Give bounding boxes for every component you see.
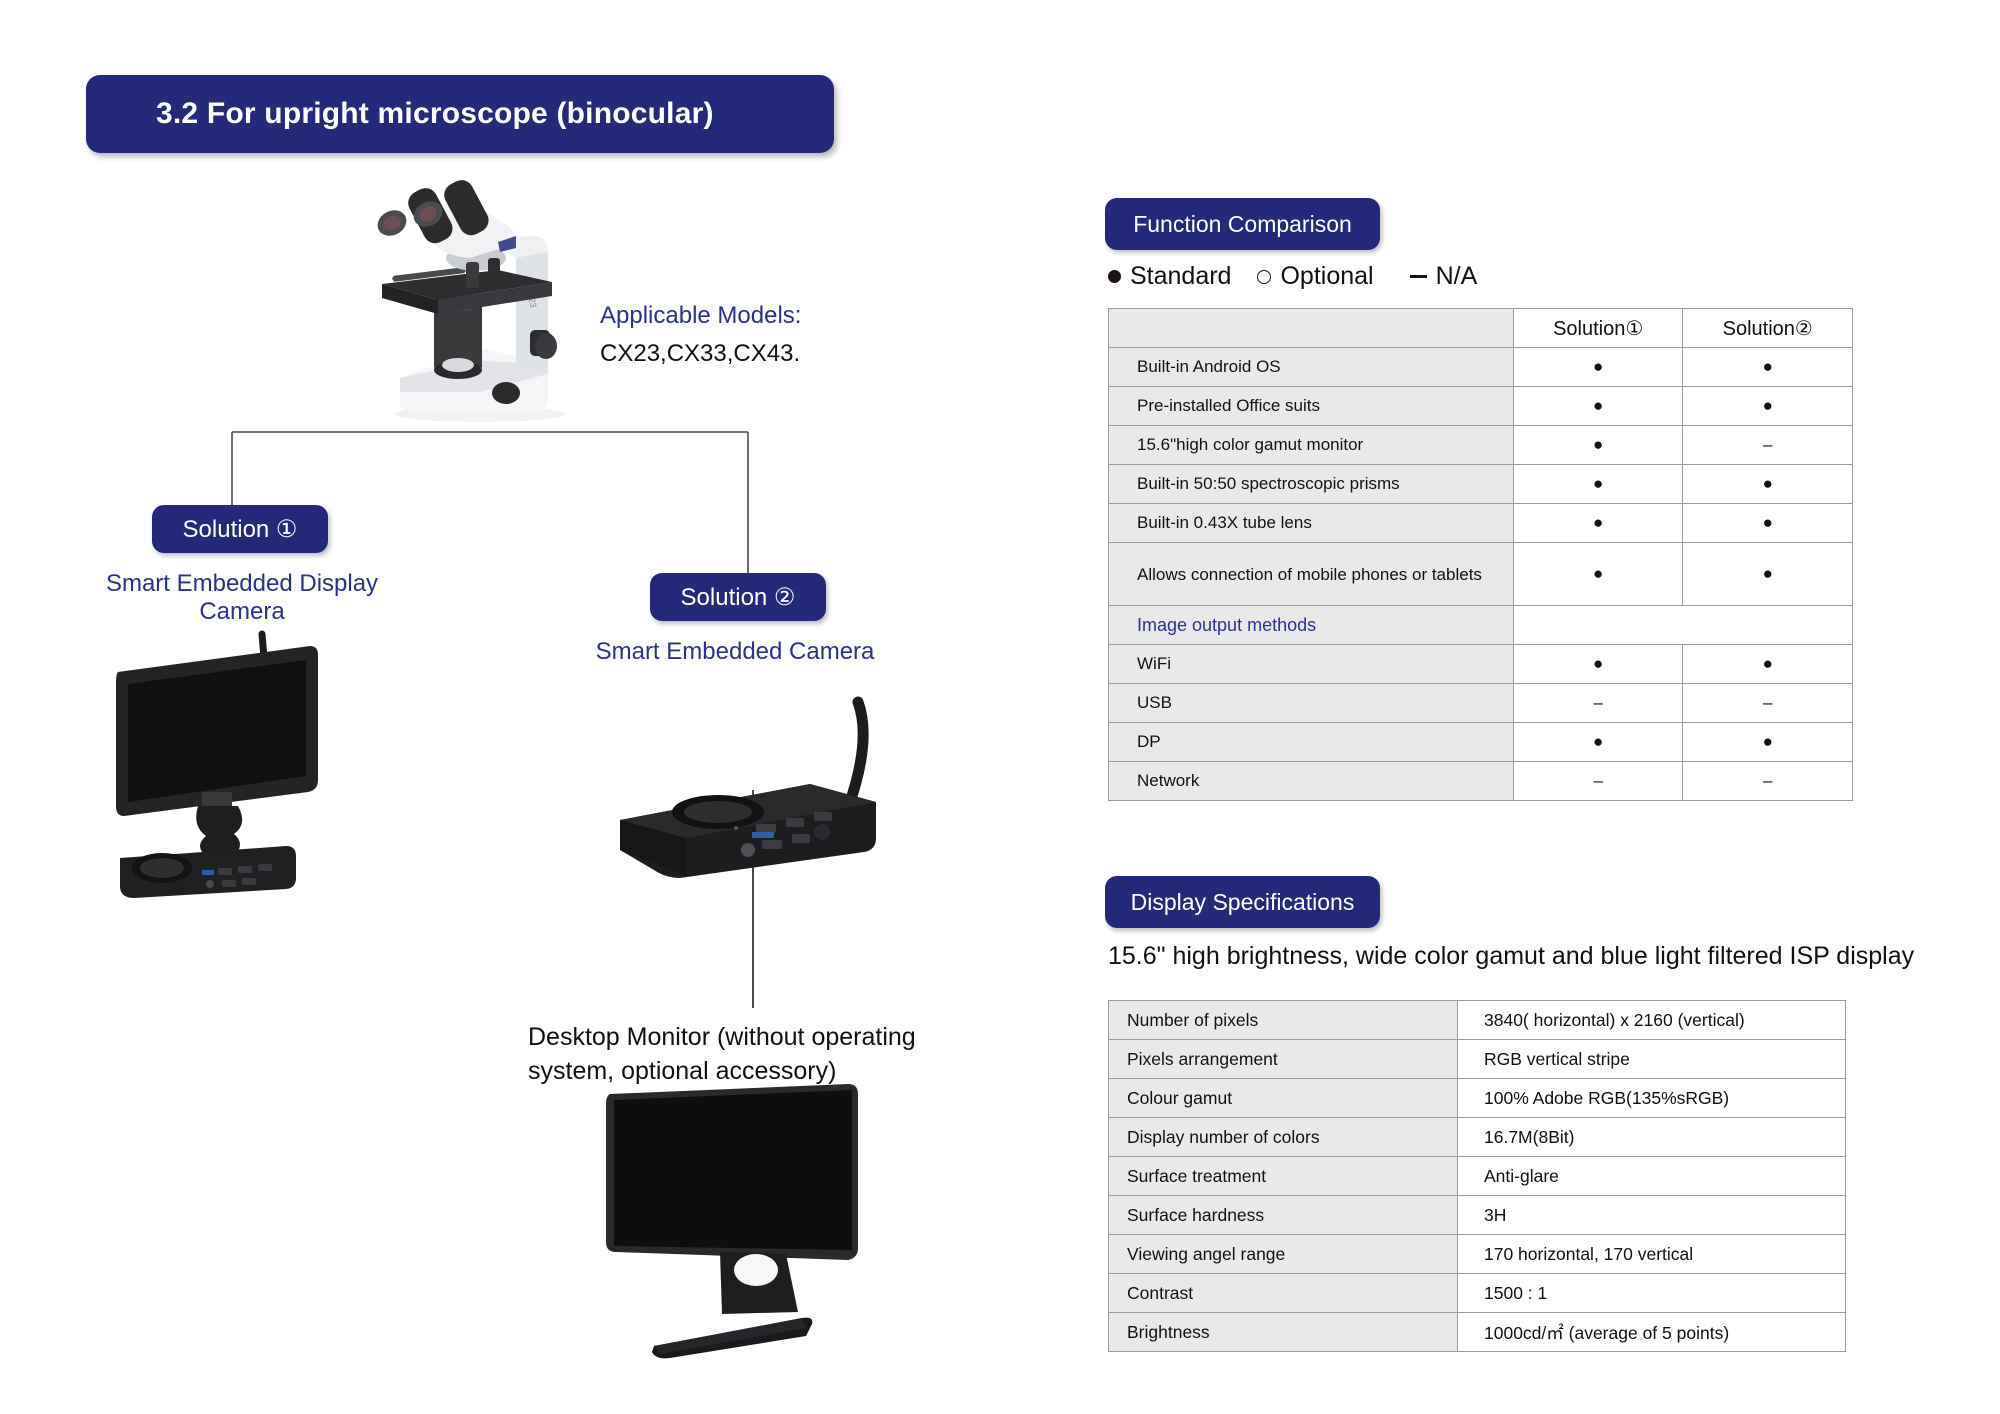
header-solution-2: Solution②: [1683, 309, 1853, 348]
row-mark-solution-1: –: [1513, 762, 1683, 801]
table-row: Colour gamut 100% Adobe RGB(135%sRGB): [1109, 1079, 1846, 1118]
row-label: WiFi: [1109, 645, 1514, 684]
table-row: Pixels arrangement RGB vertical stripe: [1109, 1040, 1846, 1079]
row-label: Pre-installed Office suits: [1109, 387, 1514, 426]
table-row: Surface treatment Anti-glare: [1109, 1157, 1846, 1196]
spec-key: Brightness: [1109, 1313, 1458, 1352]
filled-circle-icon: [1108, 270, 1121, 283]
legend-label-optional: Optional: [1280, 262, 1373, 291]
spec-value: 1000cd/㎡ (average of 5 points): [1458, 1313, 1846, 1352]
spec-value: 3H: [1458, 1196, 1846, 1235]
legend-label-standard: Standard: [1130, 262, 1231, 291]
function-comparison-legend: Standard Optional N/A: [1108, 262, 1477, 291]
solution-2-badge[interactable]: Solution ②: [650, 573, 826, 621]
display-specifications-heading-label: Display Specifications: [1131, 889, 1355, 916]
row-mark-solution-2: –: [1683, 762, 1853, 801]
row-mark-solution-2: ●: [1683, 543, 1853, 606]
applicable-models-block: Applicable Models: CX23,CX33,CX43.: [600, 298, 930, 374]
table-row: Network – –: [1109, 762, 1853, 801]
row-mark-solution-1: ●: [1513, 387, 1683, 426]
table-row: Contrast 1500 : 1: [1109, 1274, 1846, 1313]
row-label: USB: [1109, 684, 1514, 723]
row-mark-solution-2: ●: [1683, 723, 1853, 762]
table-row: Built-in 0.43X tube lens ● ●: [1109, 504, 1853, 543]
row-label: DP: [1109, 723, 1514, 762]
table-row: Viewing angel range 170 horizontal, 170 …: [1109, 1235, 1846, 1274]
table-row: USB – –: [1109, 684, 1853, 723]
spec-value: RGB vertical stripe: [1458, 1040, 1846, 1079]
table-row: Number of pixels 3840( horizontal) x 216…: [1109, 1001, 1846, 1040]
table-row: Surface hardness 3H: [1109, 1196, 1846, 1235]
table-row: Built-in 50:50 spectroscopic prisms ● ●: [1109, 465, 1853, 504]
table-row: Allows connection of mobile phones or ta…: [1109, 543, 1853, 606]
row-mark-solution-1: ●: [1513, 348, 1683, 387]
function-comparison-heading-label: Function Comparison: [1133, 211, 1352, 238]
display-specifications-table: Number of pixels 3840( horizontal) x 216…: [1108, 1000, 1846, 1352]
table-row: Pre-installed Office suits ● ●: [1109, 387, 1853, 426]
row-mark-solution-1: ●: [1513, 645, 1683, 684]
row-mark-solution-1: ●: [1513, 465, 1683, 504]
row-mark-solution-1: –: [1513, 684, 1683, 723]
upright-microscope-photo: CX23: [330, 178, 582, 428]
function-comparison-heading: Function Comparison: [1105, 198, 1380, 250]
spec-value: 3840( horizontal) x 2160 (vertical): [1458, 1001, 1846, 1040]
display-specifications-heading: Display Specifications: [1105, 876, 1380, 928]
legend-item-optional: Optional: [1257, 262, 1373, 291]
legend-item-standard: Standard: [1108, 262, 1231, 291]
spec-key: Viewing angel range: [1109, 1235, 1458, 1274]
legend-label-na: N/A: [1436, 262, 1478, 291]
display-specifications-subtitle: 15.6" high brightness, wide color gamut …: [1108, 942, 1914, 971]
section-label-image-output-methods: Image output methods: [1109, 606, 1514, 645]
row-mark-solution-2: ●: [1683, 645, 1853, 684]
page-title: 3.2 For upright microscope (binocular): [86, 97, 714, 131]
row-label: 15.6"high color gamut monitor: [1109, 426, 1514, 465]
table-row: 15.6"high color gamut monitor ● –: [1109, 426, 1853, 465]
row-mark-solution-1: ●: [1513, 426, 1683, 465]
row-mark-solution-2: ●: [1683, 348, 1853, 387]
table-row: WiFi ● ●: [1109, 645, 1853, 684]
table-row: Display number of colors 16.7M(8Bit): [1109, 1118, 1846, 1157]
open-circle-icon: [1257, 270, 1271, 284]
row-mark-solution-1: ●: [1513, 723, 1683, 762]
table-section-row: Image output methods: [1109, 606, 1853, 645]
legend-item-na: N/A: [1410, 262, 1478, 291]
row-label: Built-in 50:50 spectroscopic prisms: [1109, 465, 1514, 504]
row-mark-solution-1: ●: [1513, 543, 1683, 606]
row-mark-solution-1: ●: [1513, 504, 1683, 543]
row-label: Allows connection of mobile phones or ta…: [1109, 543, 1514, 606]
table-row: Brightness 1000cd/㎡ (average of 5 points…: [1109, 1313, 1846, 1352]
section-title-banner: 3.2 For upright microscope (binocular): [86, 75, 834, 153]
solution-2-caption: Smart Embedded Camera: [585, 638, 885, 666]
section-blank-cell: [1513, 606, 1852, 645]
desktop-monitor-photo: [590, 1080, 880, 1370]
table-header-row: Solution① Solution②: [1109, 309, 1853, 348]
applicable-models-label: Applicable Models:: [600, 298, 930, 334]
row-label: Built-in 0.43X tube lens: [1109, 504, 1514, 543]
row-label: Network: [1109, 762, 1514, 801]
row-mark-solution-2: –: [1683, 684, 1853, 723]
table-row: Built-in Android OS ● ●: [1109, 348, 1853, 387]
applicable-models-value: CX23,CX33,CX43.: [600, 334, 930, 374]
spec-key: Pixels arrangement: [1109, 1040, 1458, 1079]
function-comparison-table: Solution① Solution② Built-in Android OS …: [1108, 308, 1853, 801]
header-blank: [1109, 309, 1514, 348]
spec-key: Contrast: [1109, 1274, 1458, 1313]
spec-key: Surface hardness: [1109, 1196, 1458, 1235]
row-mark-solution-2: ●: [1683, 465, 1853, 504]
solution-1-badge[interactable]: Solution ①: [152, 505, 328, 553]
row-mark-solution-2: ●: [1683, 387, 1853, 426]
smart-embedded-display-camera-photo: [110, 630, 400, 900]
header-solution-1: Solution①: [1513, 309, 1683, 348]
solution-1-caption: Smart Embedded Display Camera: [62, 570, 422, 626]
spec-value: 1500 : 1: [1458, 1274, 1846, 1313]
dash-icon: [1410, 275, 1427, 278]
solution-1-label: Solution ①: [183, 515, 298, 544]
row-label: Built-in Android OS: [1109, 348, 1514, 387]
spec-value: 100% Adobe RGB(135%sRGB): [1458, 1079, 1846, 1118]
solution-2-label: Solution ②: [681, 583, 796, 612]
spec-key: Surface treatment: [1109, 1157, 1458, 1196]
spec-key: Number of pixels: [1109, 1001, 1458, 1040]
spec-value: Anti-glare: [1458, 1157, 1846, 1196]
spec-key: Colour gamut: [1109, 1079, 1458, 1118]
spec-key: Display number of colors: [1109, 1118, 1458, 1157]
row-mark-solution-2: –: [1683, 426, 1853, 465]
smart-embedded-camera-photo: [610, 680, 900, 895]
desktop-monitor-caption: Desktop Monitor (without operating syste…: [528, 1020, 958, 1088]
row-mark-solution-2: ●: [1683, 504, 1853, 543]
table-row: DP ● ●: [1109, 723, 1853, 762]
spec-value: 16.7M(8Bit): [1458, 1118, 1846, 1157]
spec-value: 170 horizontal, 170 vertical: [1458, 1235, 1846, 1274]
